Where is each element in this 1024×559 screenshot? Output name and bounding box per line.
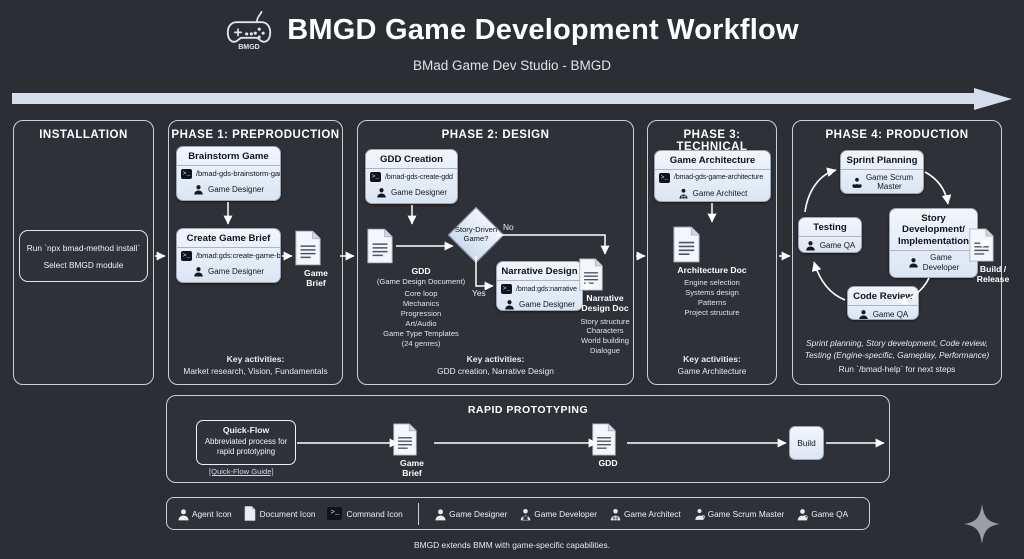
legend-label: Agent Icon bbox=[192, 509, 232, 519]
card-title-line3: Implementation bbox=[898, 236, 969, 247]
doc-bullet: Dialogue bbox=[590, 346, 620, 355]
game-architect-icon bbox=[609, 508, 620, 519]
card-title: Brainstorm Game bbox=[177, 147, 280, 166]
card-title: Create Game Brief bbox=[177, 229, 280, 248]
game-developer-icon bbox=[908, 257, 919, 268]
card-narrative-design[interactable]: Narrative Design >_ /bmad:gds:narrative … bbox=[496, 261, 583, 311]
game-qa-icon bbox=[805, 240, 816, 251]
card-command-row: >_ /bmad-gds-create-gdd bbox=[366, 169, 457, 184]
card-agent-row: Game Scrum Master bbox=[841, 170, 923, 193]
doc-label: Game Brief bbox=[392, 458, 432, 479]
key-activities-text: GDD creation, Narrative Design bbox=[437, 366, 554, 376]
rapid-doc-game-brief: Game Brief bbox=[392, 423, 432, 479]
doc-bullet: World building bbox=[581, 336, 629, 345]
doc-label-line2: Release bbox=[977, 274, 1010, 284]
card-command-row: >_ /bmad-gds-brainstorm-game bbox=[177, 166, 280, 181]
document-icon bbox=[294, 230, 338, 266]
game-qa-icon bbox=[796, 508, 807, 519]
quick-flow-box: Quick-Flow Abbreviated process for rapid… bbox=[196, 420, 296, 465]
card-agent-row: Game Designer bbox=[366, 184, 457, 200]
legend-label: Document Icon bbox=[260, 509, 316, 519]
card-command: /bmad:gds:narrative bbox=[516, 285, 577, 293]
sparkle-icon bbox=[962, 502, 1002, 546]
card-testing[interactable]: Testing Game QA bbox=[798, 217, 862, 253]
key-activities-label: Key activities: bbox=[467, 354, 525, 364]
card-agent: Game Developer bbox=[923, 253, 959, 271]
key-activities-phase-1: Key activities: Market research, Vision,… bbox=[173, 354, 338, 377]
doc-bullet: (24 genres) bbox=[402, 339, 441, 348]
install-instructions-box: Run `npx bmad-method install` Select BMG… bbox=[19, 230, 148, 282]
legend-item-document: Document Icon bbox=[244, 506, 316, 521]
doc-game-brief: Game Brief bbox=[294, 230, 338, 289]
doc-label: Architecture Doc bbox=[672, 265, 752, 275]
key-activities-phase-3: Key activities: Game Architecture bbox=[652, 354, 772, 377]
key-activities-label: Key activities: bbox=[683, 354, 741, 364]
card-title: GDD Creation bbox=[366, 150, 457, 169]
card-agent-row: Game Developer bbox=[890, 251, 977, 274]
card-create-game-brief[interactable]: Create Game Brief >_ /bmad:gds:create-ga… bbox=[176, 228, 281, 283]
document-icon bbox=[672, 226, 752, 263]
card-title: Narrative Design bbox=[497, 262, 582, 281]
panel-title-phase-1: PHASE 1: PREPRODUCTION bbox=[169, 129, 342, 141]
doc-bullet: Art/Audio bbox=[405, 319, 436, 328]
card-title: Testing bbox=[799, 218, 861, 237]
card-agent-row: Game Designer bbox=[497, 296, 582, 311]
card-brainstorm-game[interactable]: Brainstorm Game >_ /bmad-gds-brainstorm-… bbox=[176, 146, 281, 201]
doc-bullet: Game Type Templates bbox=[383, 329, 459, 338]
doc-bullet: Story structure bbox=[580, 317, 629, 326]
game-designer-icon bbox=[434, 508, 445, 519]
quick-flow-desc-line1: Abbreviated process for bbox=[205, 437, 287, 446]
document-icon bbox=[591, 423, 625, 456]
card-game-architecture[interactable]: Game Architecture >_ /bmad-gds-game-arch… bbox=[654, 150, 771, 202]
legend-item-game-designer: Game Designer bbox=[434, 508, 507, 519]
doc-label: GDD bbox=[366, 266, 476, 276]
card-agent-row: Game QA bbox=[799, 237, 861, 253]
legend: Agent Icon Document Icon >_ Command Icon… bbox=[166, 497, 870, 530]
game-scrum-master-icon bbox=[693, 508, 704, 519]
legend-label: Game Designer bbox=[449, 509, 507, 519]
card-agent-line2: Developer bbox=[923, 263, 959, 272]
card-agent-row: Game Architect bbox=[655, 185, 770, 201]
legend-item-agent: Agent Icon bbox=[177, 508, 232, 519]
game-designer-icon bbox=[193, 266, 204, 277]
card-agent: Game QA bbox=[820, 241, 856, 250]
card-command-row: >_ /bmad:gds:narrative bbox=[497, 281, 582, 296]
rapid-doc-gdd: GDD bbox=[591, 423, 625, 468]
card-agent: Game Architect bbox=[693, 189, 748, 198]
doc-label-line1: Narrative bbox=[586, 293, 623, 303]
command-icon: >_ bbox=[370, 172, 381, 182]
legend-label: Command Icon bbox=[346, 509, 402, 519]
doc-bullet: Engine selection bbox=[684, 278, 740, 287]
key-activities-text: Market research, Vision, Fundamentals bbox=[183, 366, 327, 376]
production-notes-line3: Run `/bmad-help` for next steps bbox=[839, 364, 956, 375]
card-agent-line1: Game bbox=[930, 253, 952, 262]
game-scrum-master-icon bbox=[851, 177, 862, 188]
legend-label: Game QA bbox=[811, 509, 848, 519]
doc-label-line1: Game bbox=[304, 268, 328, 278]
card-title: Story Development/ Implementation bbox=[890, 209, 977, 251]
command-icon: >_ bbox=[659, 173, 670, 183]
card-agent: Game Designer bbox=[208, 185, 264, 194]
card-gdd-creation[interactable]: GDD Creation >_ /bmad-gds-create-gdd Gam… bbox=[365, 149, 458, 204]
legend-item-command: >_ Command Icon bbox=[327, 507, 402, 520]
key-activities-label: Key activities: bbox=[227, 354, 285, 364]
panel-title-phase-2: PHASE 2: DESIGN bbox=[358, 129, 633, 141]
doc-bullets: Core loop Mechanics Progression Art/Audi… bbox=[366, 289, 476, 348]
document-icon bbox=[968, 228, 1018, 262]
agent-icon bbox=[177, 508, 188, 519]
command-icon: >_ bbox=[501, 284, 512, 294]
panel-title-installation: INSTALLATION bbox=[14, 129, 153, 141]
key-activities-text: Game Architecture bbox=[678, 366, 747, 376]
doc-bullet: Systems design bbox=[685, 288, 739, 297]
doc-label: Game Brief bbox=[294, 268, 338, 289]
card-sprint-planning[interactable]: Sprint Planning Game Scrum Master bbox=[840, 150, 924, 194]
quick-flow-desc-line2: rapid prototyping bbox=[217, 447, 275, 456]
card-agent: Game Designer bbox=[519, 300, 575, 309]
header: BMGD BMGD Game Development Workflow BMad… bbox=[0, 0, 1024, 86]
doc-label-line2: Design Doc bbox=[581, 303, 628, 313]
page-title: BMGD Game Development Workflow bbox=[287, 14, 798, 47]
game-designer-icon bbox=[193, 184, 204, 195]
install-module-line: Select BMGD module bbox=[44, 260, 124, 270]
card-agent-line2: Master bbox=[877, 182, 901, 191]
panel-title-phase-4: PHASE 4: PRODUCTION bbox=[793, 129, 1001, 141]
page-subtitle: BMad Game Dev Studio - BMGD bbox=[0, 58, 1024, 73]
command-icon: >_ bbox=[181, 169, 192, 179]
doc-architecture: Architecture Doc Engine selection System… bbox=[672, 226, 752, 318]
svg-text:BMGD: BMGD bbox=[238, 44, 260, 51]
card-command: /bmad:gds:create-game-brief bbox=[196, 251, 281, 260]
card-title: Code Review bbox=[848, 287, 918, 306]
doc-bullet: Patterns bbox=[698, 298, 726, 307]
footer-note: BMGD extends BMM with game-specific capa… bbox=[0, 540, 1024, 550]
production-notes-line1: Sprint planning, Story development, Code… bbox=[806, 338, 988, 348]
doc-label-line2: Brief bbox=[306, 278, 326, 288]
key-activities-phase-2: Key activities: GDD creation, Narrative … bbox=[362, 354, 629, 377]
legend-label: Game Scrum Master bbox=[708, 509, 785, 519]
doc-bullet: Core loop bbox=[405, 289, 438, 298]
legend-item-game-developer: Game Developer bbox=[519, 508, 597, 519]
card-agent-row: Game Designer bbox=[177, 263, 280, 279]
doc-label: GDD bbox=[591, 458, 625, 468]
edge-label-yes: Yes bbox=[472, 288, 486, 298]
card-title: Sprint Planning bbox=[841, 151, 923, 170]
card-agent-row: Game QA bbox=[848, 306, 918, 320]
card-agent: Game Designer bbox=[208, 267, 264, 276]
right-arrow-icon bbox=[12, 88, 1012, 110]
doc-bullets: Story structure Characters World buildin… bbox=[578, 317, 632, 356]
build-label: Build bbox=[797, 438, 816, 448]
legend-item-game-architect: Game Architect bbox=[609, 508, 681, 519]
doc-bullets: Engine selection Systems design Patterns… bbox=[672, 278, 752, 317]
panel-title-rapid-prototyping: RAPID PROTOTYPING bbox=[167, 404, 889, 416]
document-icon bbox=[244, 506, 256, 521]
doc-bullet: Project structure bbox=[684, 308, 739, 317]
doc-bullet: Progression bbox=[401, 309, 442, 318]
legend-item-game-scrum-master: Game Scrum Master bbox=[693, 508, 785, 519]
card-command-row: >_ /bmad-gds-game-architecture bbox=[655, 170, 770, 185]
doc-bullet: Characters bbox=[586, 326, 623, 335]
doc-narrative-design: Narrative Design Doc Story structure Cha… bbox=[578, 258, 632, 356]
doc-bullet: Mechanics bbox=[403, 299, 439, 308]
doc-label: Narrative Design Doc bbox=[578, 293, 632, 314]
command-icon: >_ bbox=[181, 251, 192, 261]
quick-flow-guide-link[interactable]: [Quick-Flow Guide] bbox=[209, 467, 274, 476]
legend-label: Game Architect bbox=[624, 509, 681, 519]
production-notes: Sprint planning, Story development, Code… bbox=[797, 338, 997, 375]
card-title-line1: Story bbox=[921, 213, 946, 224]
card-command: /bmad-gds-create-gdd bbox=[385, 173, 453, 181]
card-story-development[interactable]: Story Development/ Implementation Game D… bbox=[889, 208, 978, 278]
production-notes-line2: Testing (Engine-specific, Gameplay, Perf… bbox=[805, 350, 989, 360]
card-command-row: >_ /bmad:gds:create-game-brief bbox=[177, 248, 280, 263]
game-qa-icon bbox=[858, 309, 869, 320]
game-designer-icon bbox=[504, 299, 515, 310]
install-command-line: Run `npx bmad-method install` bbox=[27, 243, 140, 253]
card-agent: Game Designer bbox=[391, 188, 447, 197]
card-agent: Game Scrum Master bbox=[866, 173, 913, 191]
card-agent: Game QA bbox=[873, 310, 909, 319]
gamepad-icon: BMGD bbox=[225, 8, 273, 52]
card-title-line2: Development/ bbox=[902, 224, 965, 235]
edge-label-no: No bbox=[503, 222, 514, 232]
doc-build-release: Build / Release bbox=[968, 228, 1018, 285]
game-designer-icon bbox=[376, 187, 387, 198]
card-agent-row: Game Designer bbox=[177, 181, 280, 197]
card-title: Game Architecture bbox=[655, 151, 770, 170]
card-command: /bmad-gds-brainstorm-game bbox=[196, 169, 281, 178]
doc-label-line1: Build / bbox=[980, 264, 1006, 274]
command-icon: >_ bbox=[327, 507, 342, 520]
card-agent-line1: Game Scrum bbox=[866, 173, 913, 182]
legend-divider bbox=[418, 503, 419, 525]
document-icon bbox=[578, 258, 632, 291]
document-icon bbox=[392, 423, 432, 456]
rapid-build-box[interactable]: Build bbox=[789, 426, 824, 460]
doc-sublabel: (Game Design Document) bbox=[366, 277, 476, 286]
doc-label: Build / Release bbox=[968, 264, 1018, 285]
legend-item-game-qa: Game QA bbox=[796, 508, 848, 519]
legend-label: Game Developer bbox=[534, 509, 597, 519]
card-code-review[interactable]: Code Review Game QA bbox=[847, 286, 919, 320]
workflow-diagram: BMGD BMGD Game Development Workflow BMad… bbox=[0, 0, 1024, 559]
quick-flow-description: Abbreviated process for rapid prototypin… bbox=[200, 437, 292, 457]
quick-flow-title: Quick-Flow bbox=[200, 425, 292, 435]
card-command: /bmad-gds-game-architecture bbox=[674, 174, 763, 181]
game-developer-icon bbox=[519, 508, 530, 519]
game-architect-icon bbox=[678, 188, 689, 199]
